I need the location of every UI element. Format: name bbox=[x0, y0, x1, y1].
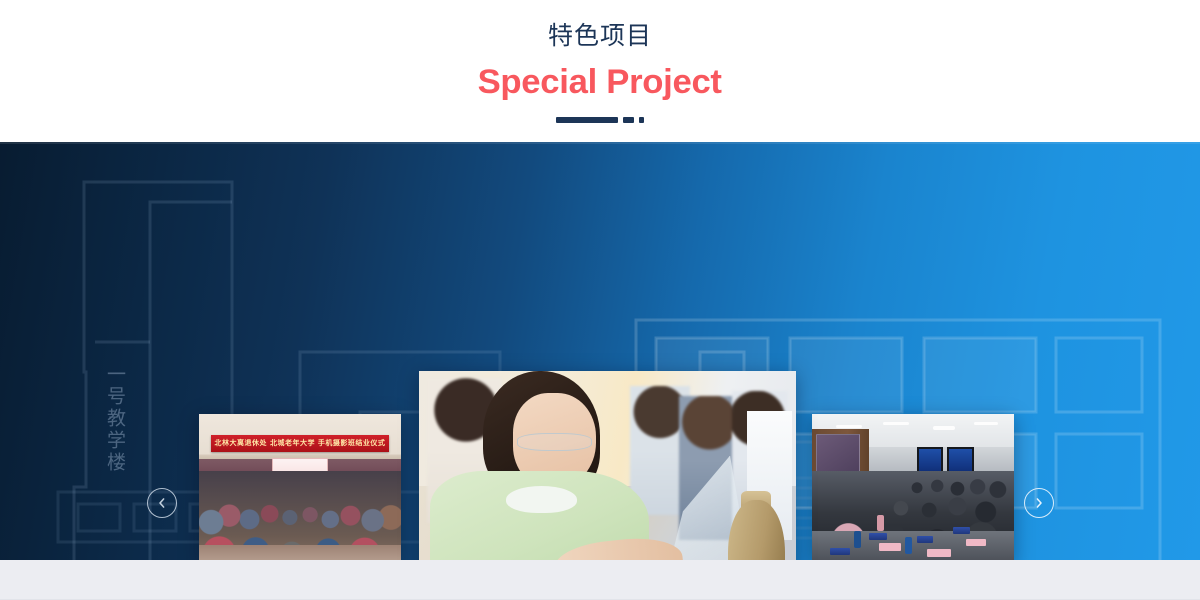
photo-subject-glasses bbox=[517, 433, 592, 450]
chevron-left-icon bbox=[156, 497, 168, 509]
photo-monitor bbox=[917, 447, 943, 473]
photo-ceiling-light bbox=[933, 426, 955, 430]
photo-nameplate bbox=[917, 536, 933, 544]
title-divider bbox=[556, 117, 644, 123]
photo-notepad bbox=[966, 539, 986, 547]
carousel-prev-button[interactable] bbox=[147, 488, 177, 518]
carousel-slide-center-active[interactable]: 2024年北京市职工职业技能大赛可移动文物保护专业人员技能竞赛 bbox=[419, 371, 796, 560]
photo-ceiling-light bbox=[836, 425, 862, 429]
slide-photo-cyber-security-training bbox=[812, 414, 1014, 560]
divider-dash-dot bbox=[639, 117, 644, 123]
divider-dash-mid bbox=[623, 117, 634, 123]
photo-monitor bbox=[947, 447, 973, 473]
page-title-cn: 特色项目 bbox=[548, 20, 652, 52]
carousel-slide-left[interactable]: 北林大离退休处 北城老年大学 手机摄影班结业仪式 街校融合，我校老年大学赋能社区… bbox=[199, 414, 401, 560]
slide-photo-elderly-university: 北林大离退休处 北城老年大学 手机摄影班结业仪式 bbox=[199, 414, 401, 560]
photo-banner: 北林大离退休处 北城老年大学 手机摄影班结业仪式 bbox=[211, 435, 389, 452]
photo-nameplate bbox=[869, 533, 887, 541]
photo-subject-collar bbox=[506, 486, 578, 513]
slide-image-frame[interactable] bbox=[419, 371, 796, 560]
photo-ceiling-light bbox=[883, 422, 909, 426]
slide-photo-relic-conservation-contest bbox=[419, 371, 796, 560]
photo-notepad bbox=[879, 543, 901, 551]
photo-ceiling-light bbox=[974, 422, 998, 426]
carousel-next-button[interactable] bbox=[1024, 488, 1054, 518]
photo-bottle bbox=[905, 537, 912, 554]
page-bottom-strip bbox=[0, 560, 1200, 600]
divider-dash-long bbox=[556, 117, 618, 123]
chevron-right-icon bbox=[1033, 497, 1045, 509]
showcase-section: 一号教学楼 北林大离退休处 北城老年大学 手机摄影班结业仪式 街校融合，我校老年… bbox=[0, 142, 1200, 560]
carousel-slide-right[interactable]: 2024年首都工匠学院网络空间安全高技能... bbox=[812, 414, 1014, 560]
photo-bottle bbox=[877, 515, 884, 532]
photo-bottle bbox=[854, 531, 861, 548]
section-header: 特色项目 Special Project bbox=[0, 0, 1200, 142]
slide-image-frame[interactable] bbox=[812, 414, 1014, 560]
slide-image-frame[interactable]: 北林大离退休处 北城老年大学 手机摄影班结业仪式 bbox=[199, 414, 401, 560]
photo-nameplate bbox=[953, 527, 969, 535]
project-carousel[interactable]: 北林大离退休处 北城老年大学 手机摄影班结业仪式 街校融合，我校老年大学赋能社区… bbox=[0, 142, 1200, 560]
photo-floor bbox=[199, 545, 401, 561]
page-title-en: Special Project bbox=[478, 61, 722, 103]
photo-banner-text: 北林大离退休处 北城老年大学 手机摄影班结业仪式 bbox=[211, 435, 389, 452]
photo-nameplate bbox=[830, 548, 850, 556]
photo-notepad bbox=[927, 549, 951, 557]
